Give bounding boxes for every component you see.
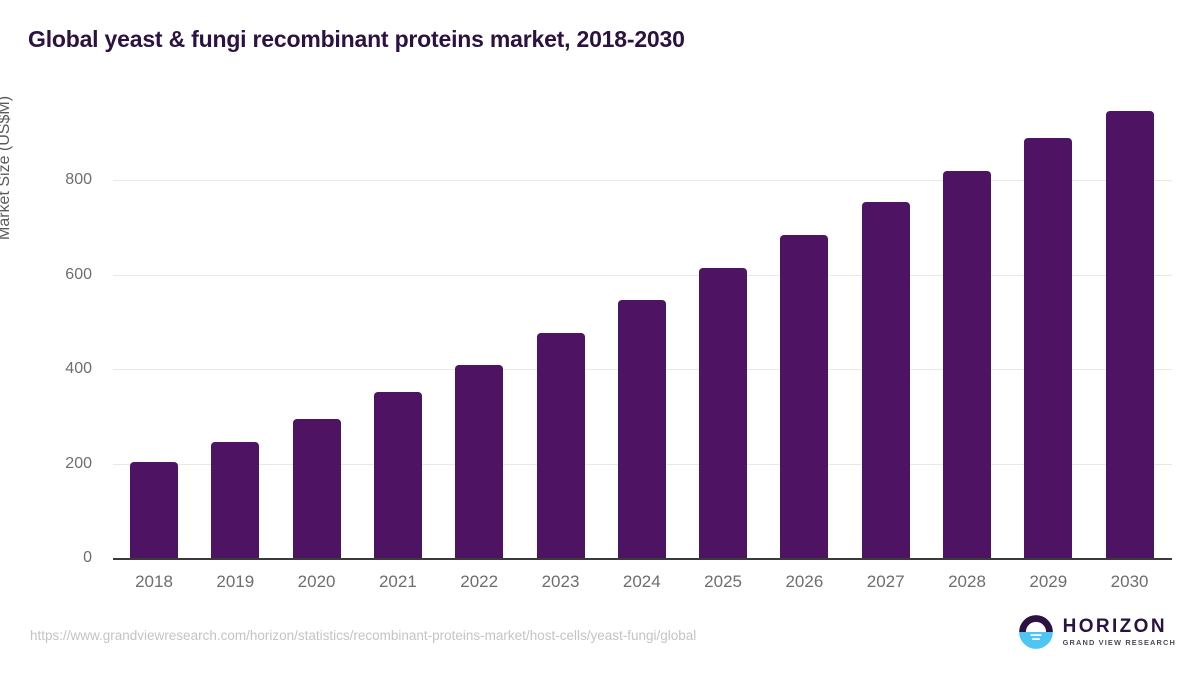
gridline [113,275,1172,276]
y-axis-title: Market Size (US$M) [0,96,14,240]
source-url[interactable]: https://www.grandviewresearch.com/horizo… [30,628,696,643]
gridline [113,180,1172,181]
y-tick-label: 800 [22,171,92,189]
bar[interactable] [1106,111,1154,558]
bar[interactable] [374,392,422,558]
bar[interactable] [943,171,991,558]
bar[interactable] [293,419,341,558]
x-tick-label: 2024 [602,572,682,592]
x-tick-label: 2029 [1008,572,1088,592]
horizon-logo-text: HORIZON GRAND VIEW RESEARCH [1063,617,1176,647]
x-tick-label: 2021 [358,572,438,592]
bar[interactable] [862,202,910,558]
horizon-logo-icon [1018,614,1054,650]
y-tick-label: 400 [22,360,92,378]
bar[interactable] [618,300,666,558]
bar[interactable] [537,333,585,558]
page-title: Global yeast & fungi recombinant protein… [28,26,685,53]
x-tick-label: 2027 [846,572,926,592]
x-tick-label: 2020 [277,572,357,592]
y-tick-label: 600 [22,266,92,284]
bar[interactable] [699,268,747,558]
x-tick-label: 2025 [683,572,763,592]
x-tick-label: 2023 [521,572,601,592]
x-tick-label: 2019 [195,572,275,592]
y-tick-label: 200 [22,455,92,473]
bar[interactable] [211,442,259,558]
bar[interactable] [1024,138,1072,558]
logo-wordmark: HORIZON [1063,617,1176,637]
bar[interactable] [130,462,178,558]
bar[interactable] [455,365,503,558]
x-axis-line [113,558,1172,560]
x-tick-label: 2028 [927,572,1007,592]
x-tick-label: 2026 [764,572,844,592]
x-tick-label: 2022 [439,572,519,592]
horizon-logo: HORIZON GRAND VIEW RESEARCH [1018,614,1176,650]
x-tick-label: 2030 [1090,572,1170,592]
x-tick-label: 2018 [114,572,194,592]
bar[interactable] [780,235,828,558]
chart-card: Global yeast & fungi recombinant protein… [0,0,1200,675]
y-tick-label: 0 [22,549,92,567]
logo-tagline: GRAND VIEW RESEARCH [1063,639,1176,647]
